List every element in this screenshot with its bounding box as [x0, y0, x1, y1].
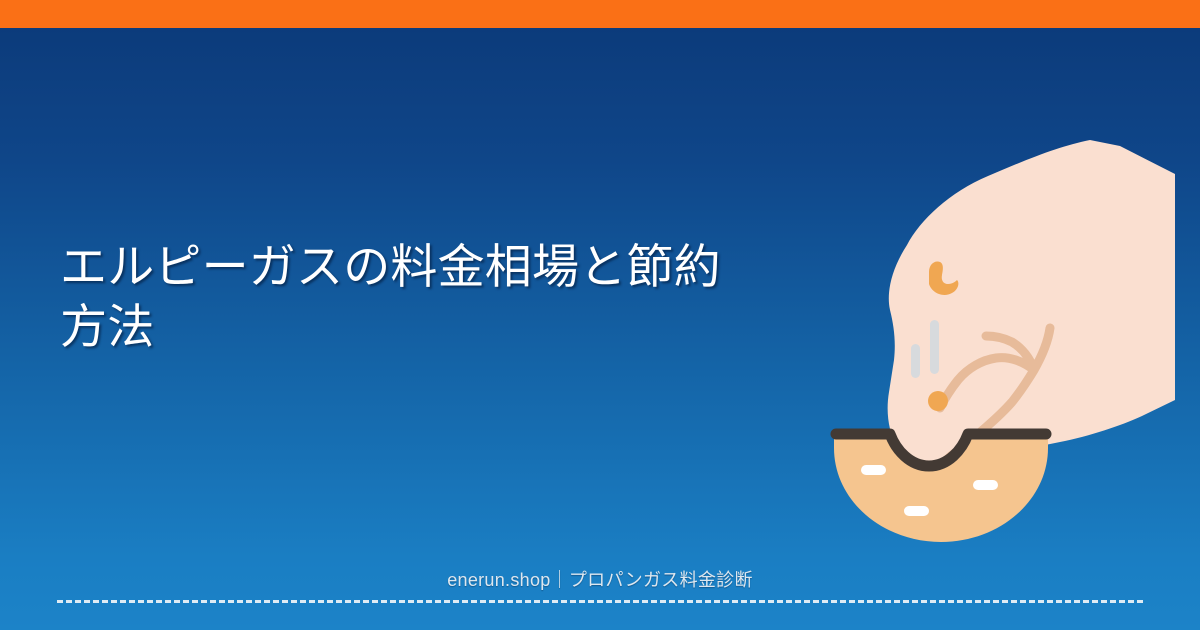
coin-circle [928, 391, 948, 411]
accent-top-bar [0, 0, 1200, 28]
motion-line-tall [930, 320, 939, 374]
share-card-canvas: エルピーガスの料金相場と節約方法 enerun.shop｜プロパンガス料金診断 [0, 0, 1200, 630]
hand-coin-bowl-illustration [790, 70, 1200, 550]
motion-line-short [911, 344, 920, 378]
footer-site-credit: enerun.shop｜プロパンガス料金診断 [447, 568, 753, 592]
bowl-dash-2 [973, 480, 998, 490]
bowl-dash-3 [904, 506, 929, 516]
footer: enerun.shop｜プロパンガス料金診断 [0, 568, 1200, 592]
footer-dashed-divider [57, 600, 1143, 603]
bowl-dash-1 [861, 465, 886, 475]
page-title: エルピーガスの料金相場と節約方法 [60, 237, 760, 357]
